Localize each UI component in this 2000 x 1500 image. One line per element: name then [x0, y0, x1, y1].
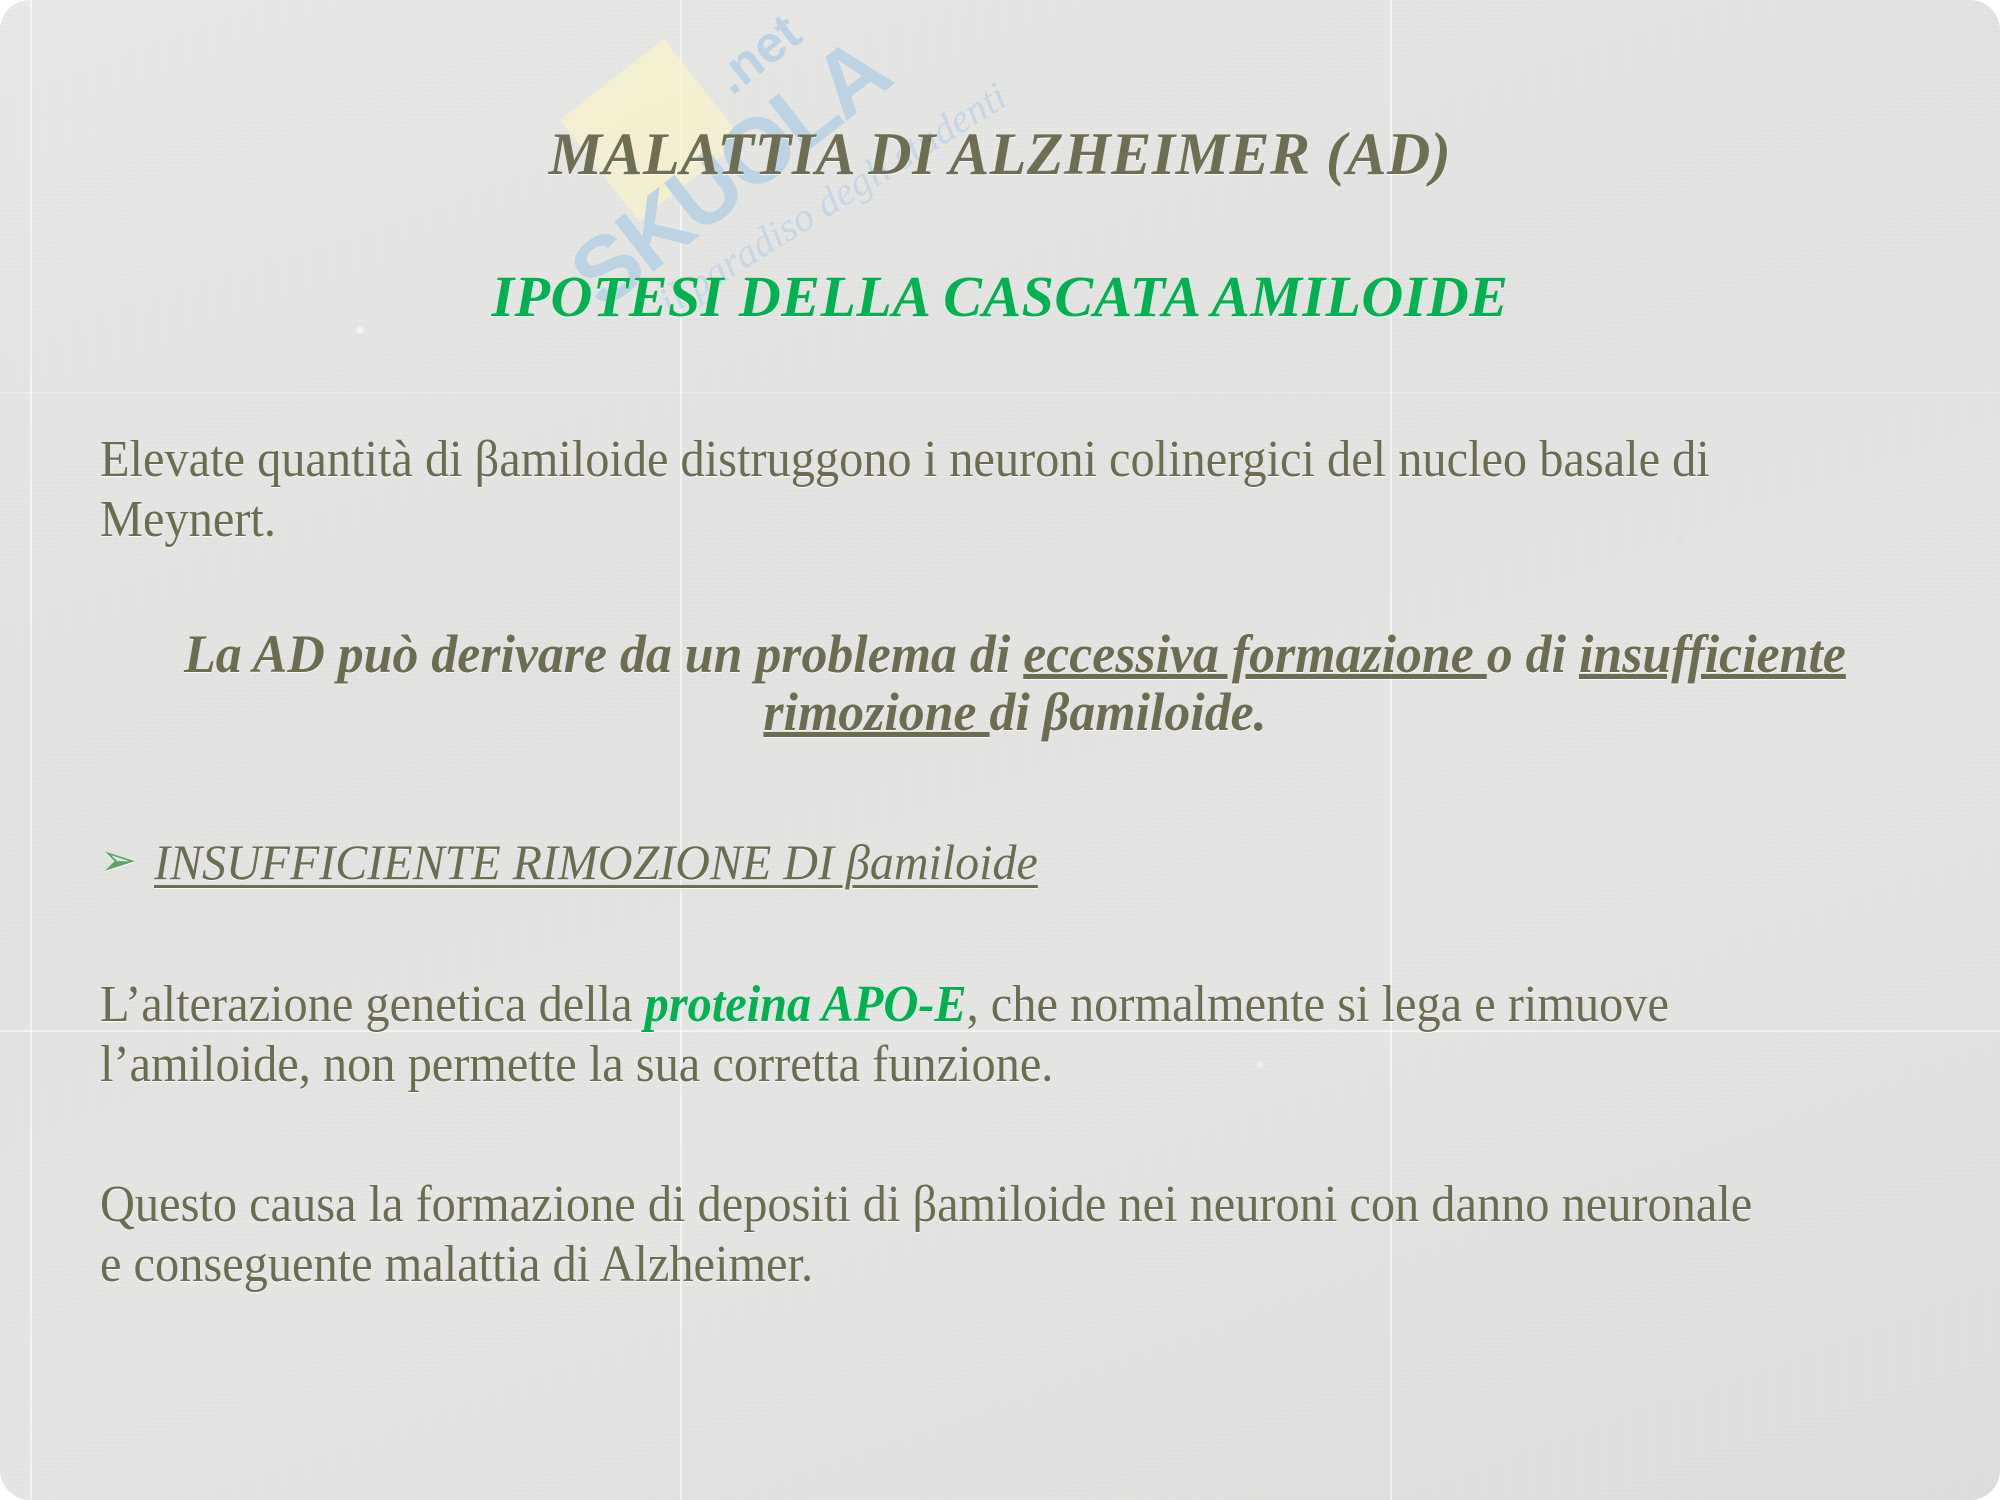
bullet-list-item: ➢ INSUFFICIENTE RIMOZIONE DI βamiloide: [100, 833, 1900, 891]
paragraph-conclusion: Questo causa la formazione di depositi d…: [100, 1175, 1783, 1295]
apoe-text-1: L’alterazione genetica della: [100, 976, 645, 1033]
slide-content: MALATTIA DI ALZHEIMER (AD) IPOTESI DELLA…: [0, 0, 2000, 1500]
emphasis-text-2: o di: [1487, 624, 1579, 684]
apoe-highlight: proteina APO-E: [645, 976, 967, 1033]
slide-title: MALATTIA DI ALZHEIMER (AD): [0, 120, 2000, 189]
emphasis-underline-1: eccessiva formazione: [1023, 624, 1487, 684]
paragraph-intro: Elevate quantità di βamiloide distruggon…: [100, 430, 1783, 550]
slide-subtitle: IPOTESI DELLA CASCATA AMILOIDE: [0, 263, 2000, 330]
paragraph-emphasis: La AD può derivare da un problema di ecc…: [137, 625, 1894, 742]
bullet-item-label: INSUFFICIENTE RIMOZIONE DI βamiloide: [154, 833, 1830, 891]
emphasis-text-3: di βamiloide.: [990, 682, 1267, 742]
emphasis-text-1: La AD può derivare da un problema di: [184, 624, 1023, 684]
arrow-bullet-icon: ➢: [100, 839, 154, 883]
slide-canvas: SKUOLA .net il paradiso degli studenti M…: [0, 0, 2000, 1500]
paragraph-apoe: L’alterazione genetica della proteina AP…: [100, 975, 1783, 1095]
